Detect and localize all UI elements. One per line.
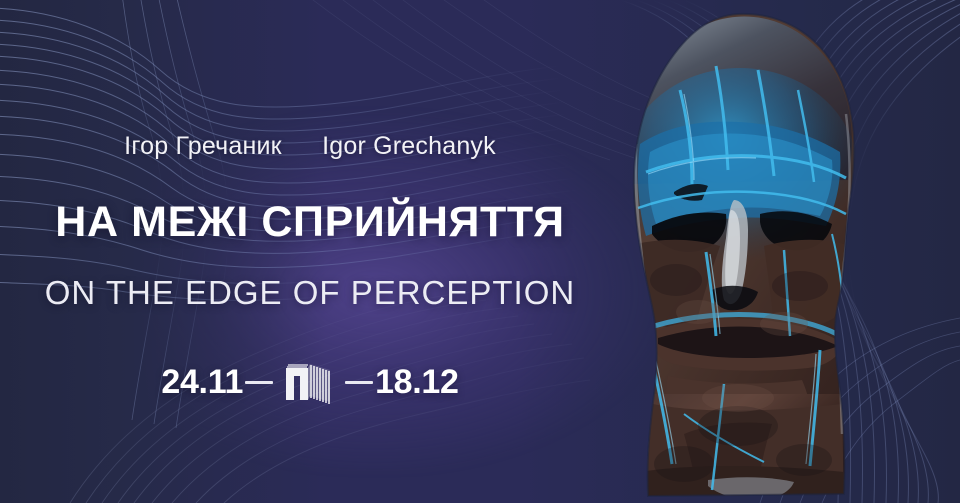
date-start: 24.11 xyxy=(161,365,243,399)
exhibition-dates: 24.11 xyxy=(0,358,620,406)
dash-left-icon xyxy=(245,381,273,384)
date-end: 18.12 xyxy=(375,365,459,399)
dash-right-icon xyxy=(345,381,373,384)
artist-names: Ігор Гречаник Igor Grechanyk xyxy=(0,132,620,161)
exhibition-title-uk: НА МЕЖІ СПРИЙНЯТТЯ xyxy=(0,198,620,247)
exhibition-poster: Ігор Гречаник Igor Grechanyk НА МЕЖІ СПР… xyxy=(0,0,960,503)
exhibition-title-en: ON THE EDGE OF PERCEPTION xyxy=(0,274,620,312)
bronze-head-sculpture xyxy=(588,0,910,503)
artist-name-uk: Ігор Гречаник xyxy=(124,132,282,160)
artist-name-en: Igor Grechanyk xyxy=(322,132,496,160)
museum-m-logo xyxy=(283,358,335,406)
poster-content: Ігор Гречаник Igor Grechanyk НА МЕЖІ СПР… xyxy=(0,0,620,503)
